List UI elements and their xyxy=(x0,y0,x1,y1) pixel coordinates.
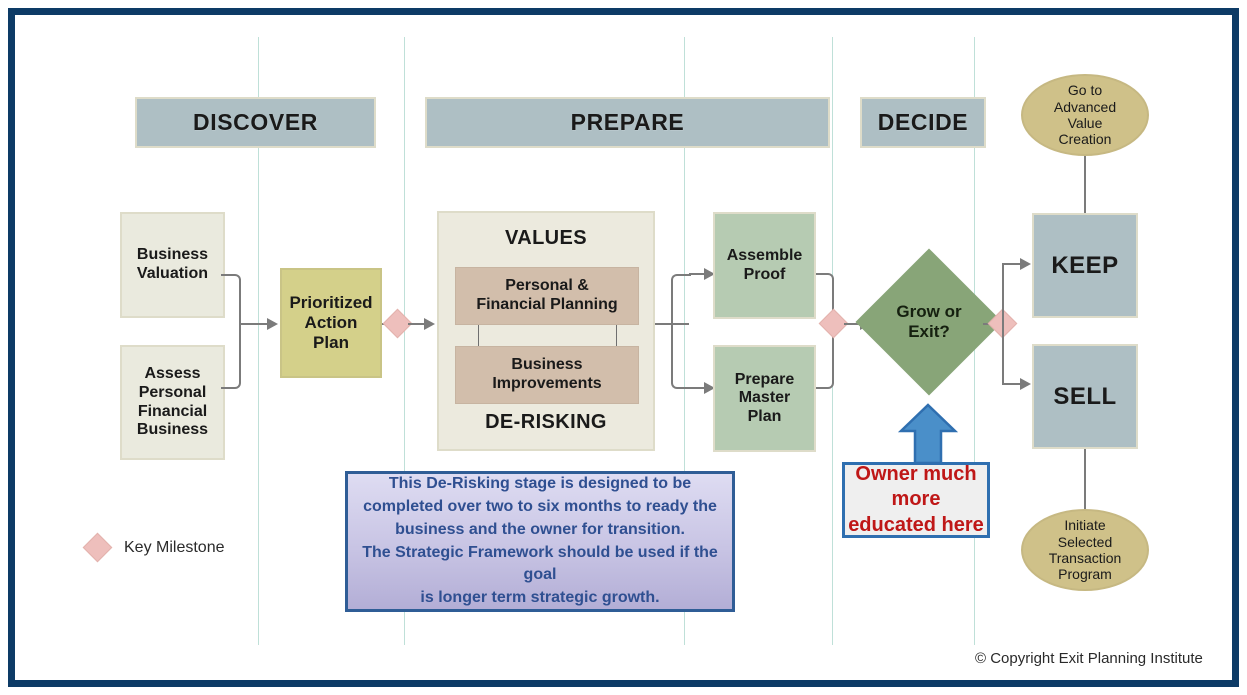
note-owner-educated: Owner much more educated here xyxy=(842,462,990,538)
box-business-improvements[interactable]: Business Improvements xyxy=(455,346,639,404)
decision-label: Grow or Exit? xyxy=(896,302,961,343)
legend-milestone-label: Key Milestone xyxy=(124,539,225,557)
box-prepare-master-plan[interactable]: Prepare Master Plan xyxy=(713,345,816,452)
box-keep[interactable]: KEEP xyxy=(1032,213,1138,318)
arrow-to-sell xyxy=(1020,378,1031,390)
ellipse-initiate-selected-transaction-program[interactable]: Initiate Selected Transaction Program xyxy=(1021,509,1149,591)
phase-header-prepare: PREPARE xyxy=(425,97,830,148)
arrow-milestone1-to-values xyxy=(424,318,435,330)
ellipse-go-to-advanced-value-creation[interactable]: Go to Advanced Value Creation xyxy=(1021,74,1149,156)
note-derisking-explanation: This De-Risking stage is designed to be … xyxy=(345,471,735,612)
copyright-text: © Copyright Exit Planning Institute xyxy=(975,650,1203,667)
legend-milestone-icon xyxy=(83,533,113,563)
up-arrow-icon xyxy=(897,403,959,465)
bracket-discover-join xyxy=(221,274,241,389)
connector-values-internal-right xyxy=(616,325,617,346)
connector-sell-to-initiate-transaction xyxy=(1084,449,1086,511)
box-personal-financial-planning[interactable]: Personal & Financial Planning xyxy=(455,267,639,325)
legend-key-milestone: Key Milestone xyxy=(87,537,225,558)
arrow-to-keep xyxy=(1020,258,1031,270)
label-derisking: DE-RISKING xyxy=(437,411,655,434)
connector-values-internal-left xyxy=(478,325,479,346)
box-assemble-proof[interactable]: Assemble Proof xyxy=(713,212,816,319)
box-assess-personal-financial-business[interactable]: Assess Personal Financial Business xyxy=(120,345,225,460)
box-sell[interactable]: SELL xyxy=(1032,344,1138,449)
connector-split-vertical xyxy=(1002,263,1004,383)
phase-header-decide: DECIDE xyxy=(860,97,986,148)
box-prioritized-action-plan[interactable]: Prioritized Action Plan xyxy=(280,268,382,378)
diagram-canvas: DISCOVER PREPARE DECIDE Business Valuati… xyxy=(15,15,1232,680)
bracket-prepare-split xyxy=(671,274,691,389)
diagram-frame: DISCOVER PREPARE DECIDE Business Valuati… xyxy=(8,8,1239,687)
phase-label-decide: DECIDE xyxy=(878,109,969,136)
decision-grow-or-exit[interactable]: Grow or Exit? xyxy=(858,243,1000,401)
label-values: VALUES xyxy=(437,227,655,250)
phase-label-prepare: PREPARE xyxy=(571,109,685,136)
arrow-discover-to-plan xyxy=(267,318,278,330)
box-business-valuation[interactable]: Business Valuation xyxy=(120,212,225,318)
phase-header-discover: DISCOVER xyxy=(135,97,376,148)
phase-label-discover: DISCOVER xyxy=(193,109,318,136)
